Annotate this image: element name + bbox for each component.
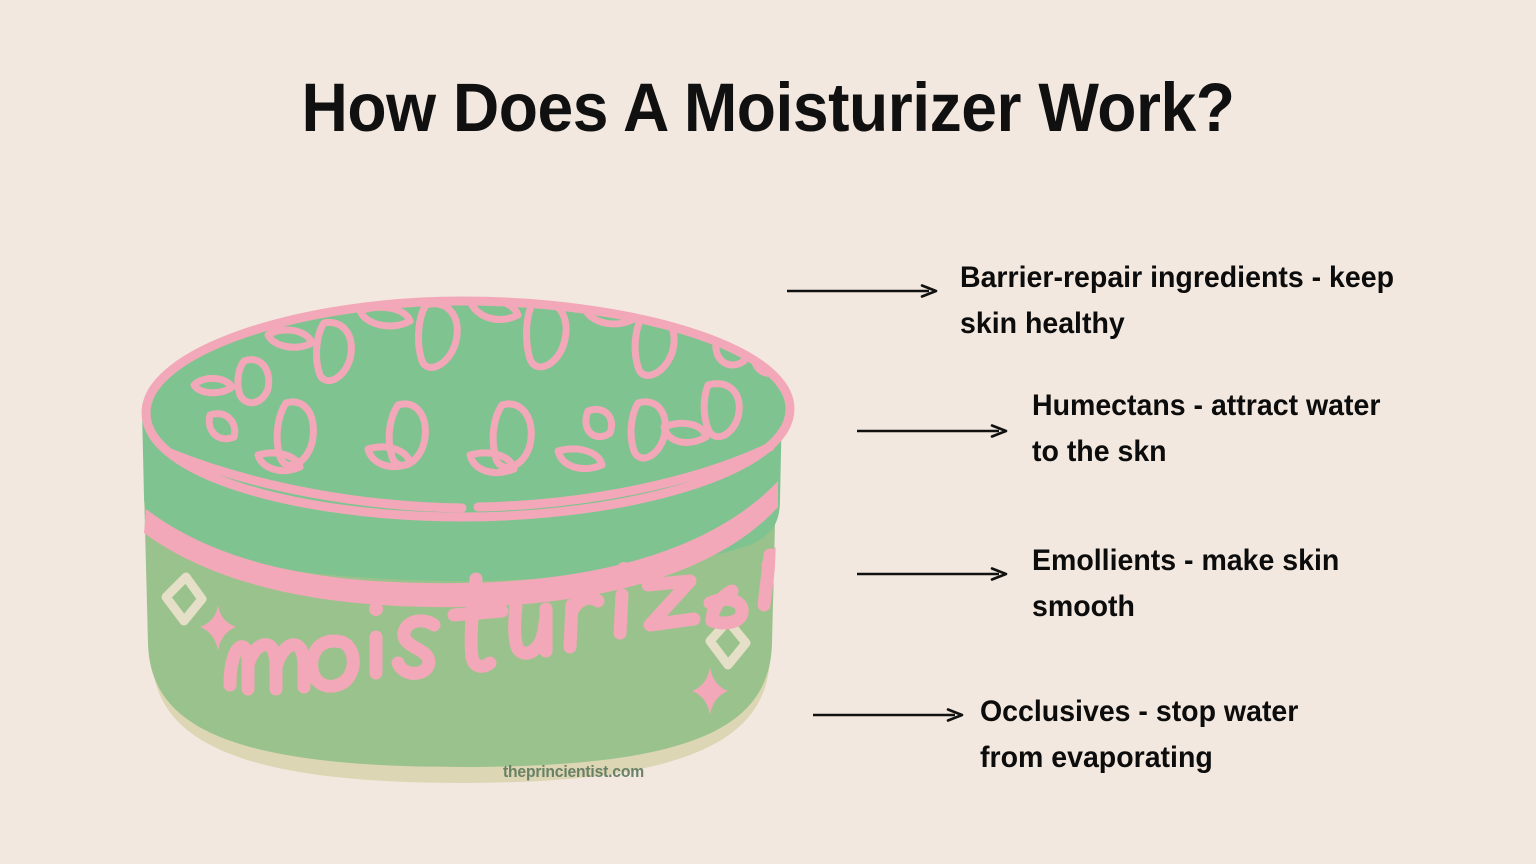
jar-lid-top: [146, 299, 790, 517]
watermark-text: theprincientist.com: [503, 763, 644, 782]
callout-text-occlusives: Occlusives - stop water from evaporating: [980, 689, 1298, 781]
page-title: How Does A Moisturizer Work?: [54, 68, 1482, 147]
callout-line: from evaporating: [980, 735, 1298, 781]
infographic-canvas: How Does A Moisturizer Work?: [0, 0, 1536, 864]
callout-line: Emollients - make skin: [1032, 538, 1339, 584]
arrow-right-icon: [856, 423, 1008, 443]
callout-line: to the skn: [1032, 429, 1380, 475]
arrow-right-icon: [856, 566, 1008, 586]
callout-line: Humectans - attract water: [1032, 383, 1380, 429]
callout-line: skin healthy: [960, 301, 1394, 347]
callout-line: smooth: [1032, 584, 1339, 630]
callout-text-barrier-repair: Barrier-repair ingredients - keep skin h…: [960, 255, 1394, 347]
moisturizer-jar-illustration: theprincientist.com: [110, 285, 830, 795]
callout-text-emollients: Emollients - make skin smooth: [1032, 538, 1339, 630]
callout-text-humectants: Humectans - attract water to the skn: [1032, 383, 1380, 475]
arrow-right-icon: [812, 707, 964, 727]
arrow-right-icon: [786, 283, 938, 303]
callout-line: Barrier-repair ingredients - keep: [960, 255, 1394, 301]
callout-line: Occlusives - stop water: [980, 689, 1298, 735]
